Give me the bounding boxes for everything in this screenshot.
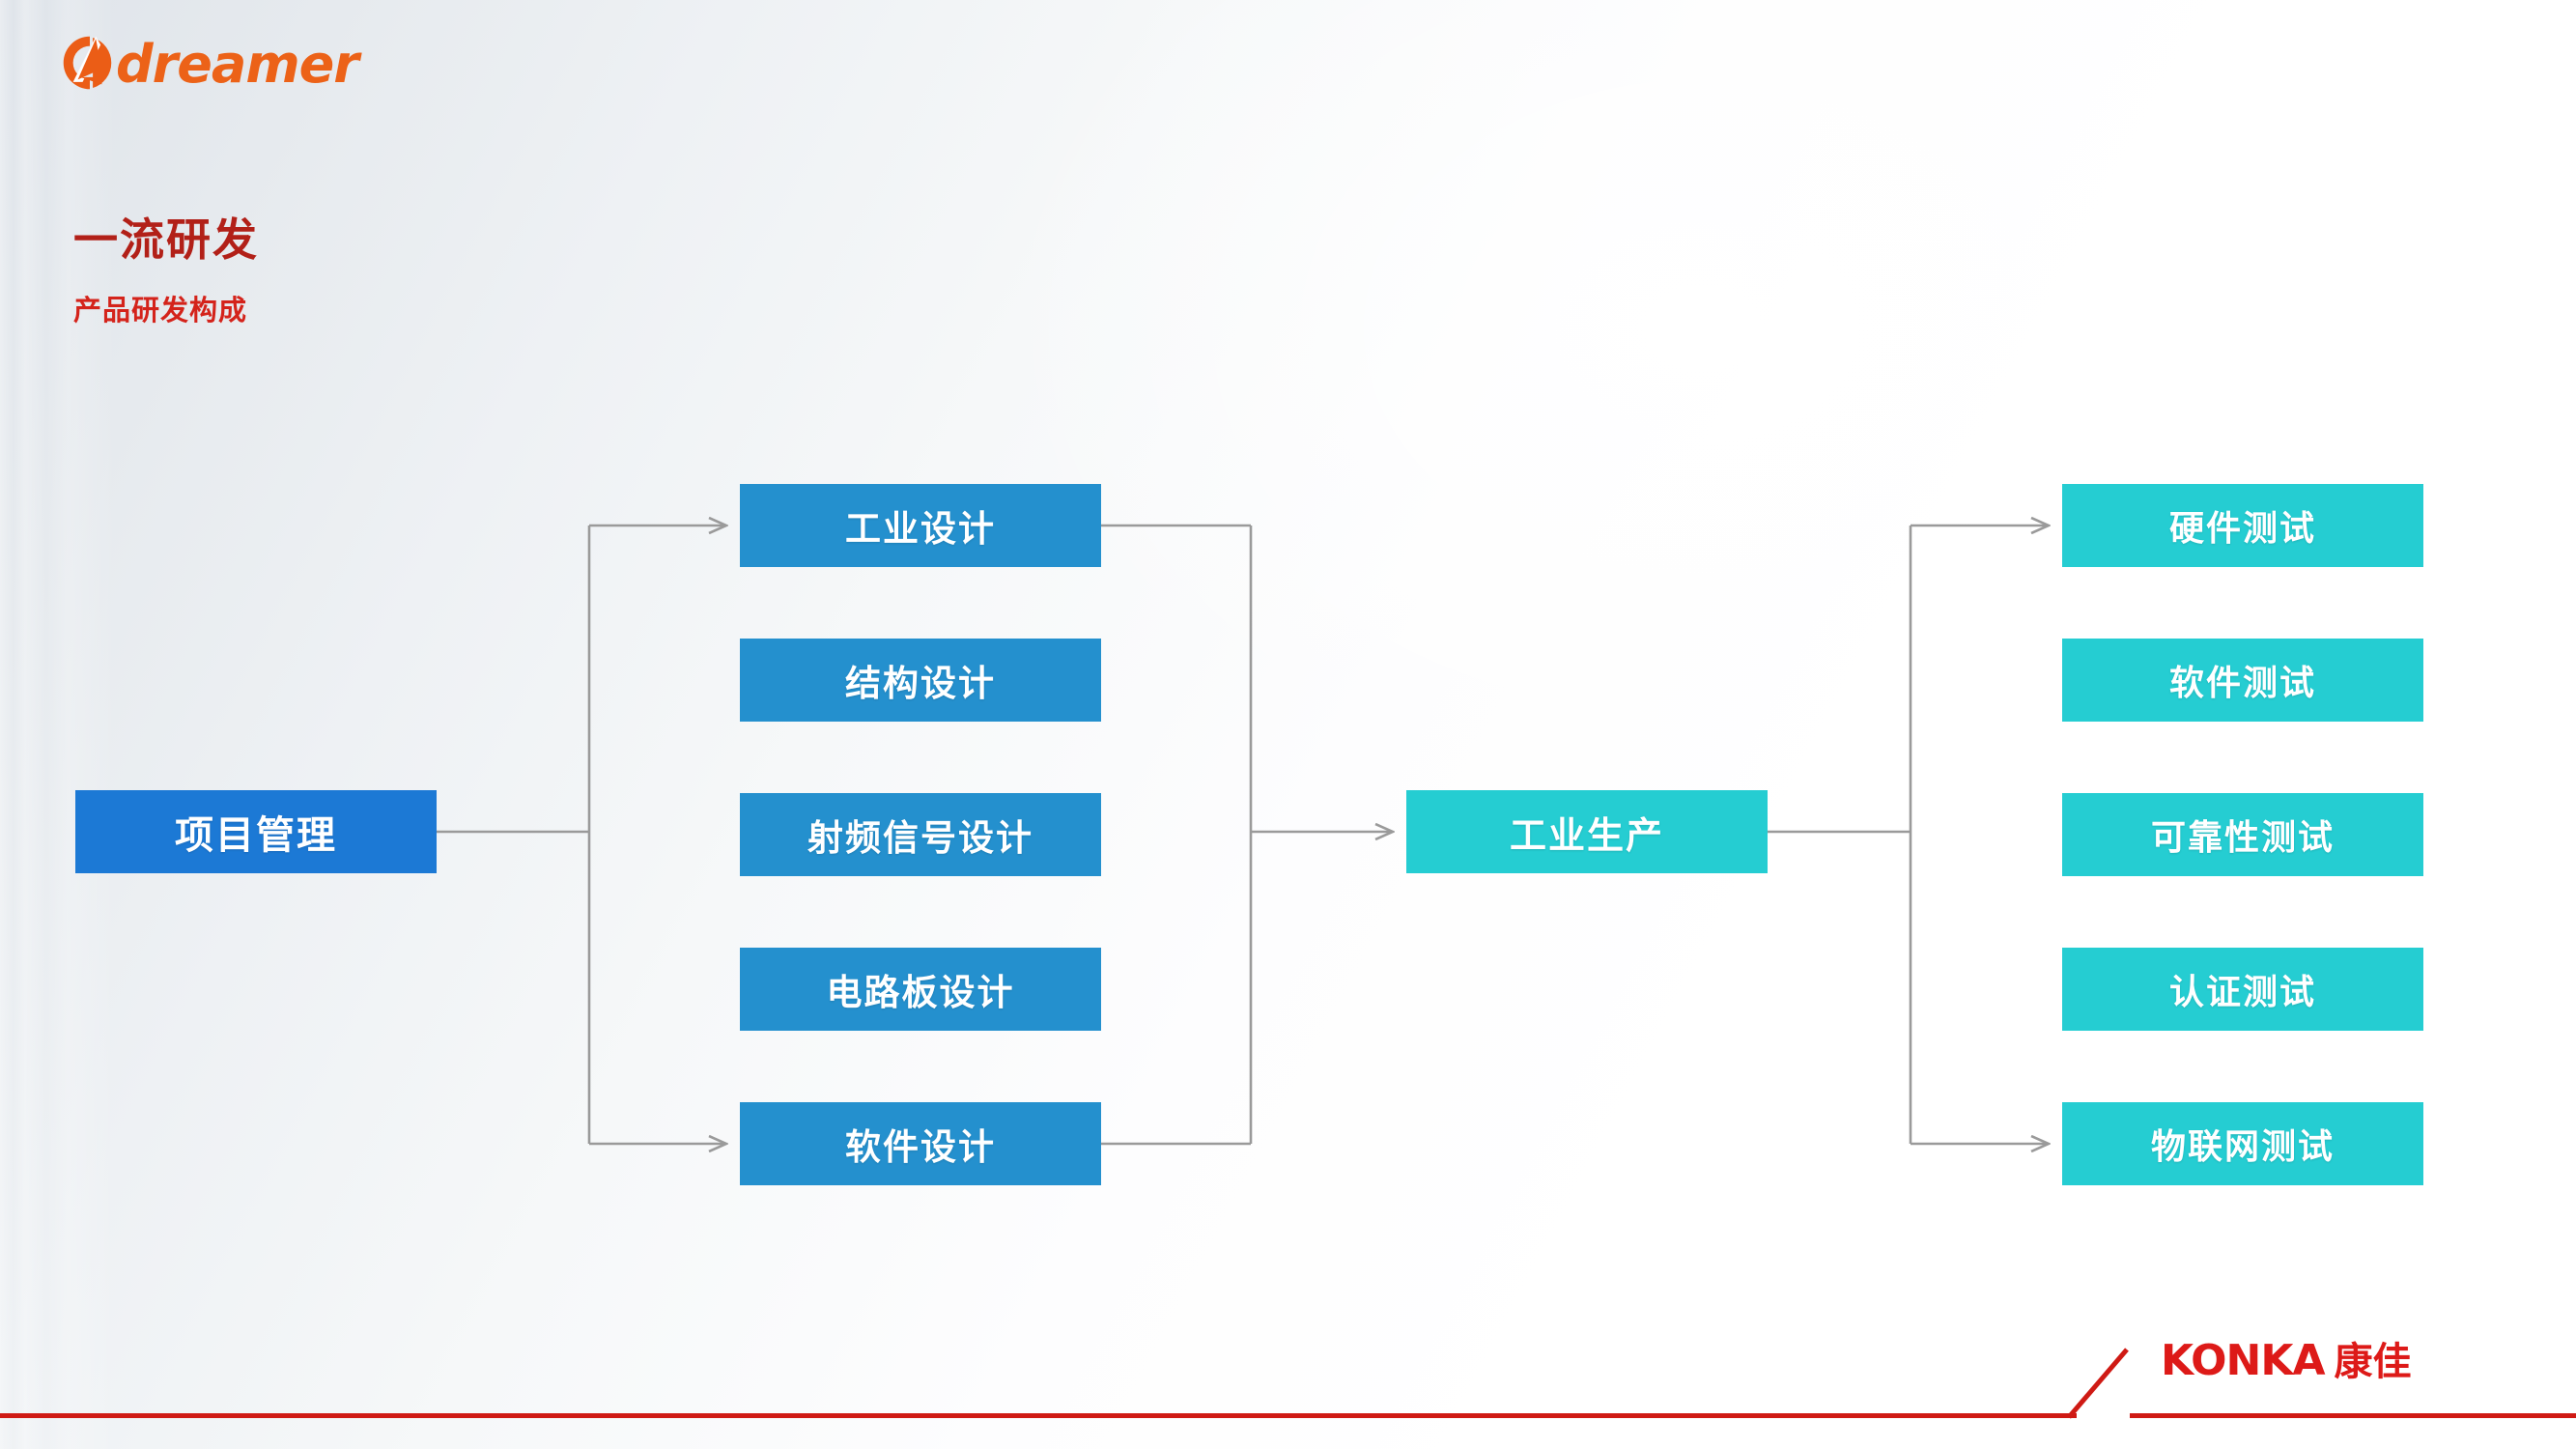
node-label: 物联网测试	[2151, 1119, 2335, 1169]
footer-rule-left	[0, 1413, 2077, 1418]
node-rf-signal-design[interactable]: 射频信号设计	[740, 793, 1101, 876]
node-label: 项目管理	[175, 804, 337, 860]
node-industrial-design[interactable]: 工业设计	[740, 484, 1101, 567]
node-label: 射频信号设计	[807, 809, 1033, 861]
node-reliability-test[interactable]: 可靠性测试	[2062, 793, 2423, 876]
node-label: 硬件测试	[2169, 500, 2316, 551]
node-label: 电路板设计	[827, 963, 1015, 1015]
footer-rule-slash	[2067, 1348, 2144, 1419]
node-label: 结构设计	[845, 654, 996, 706]
node-hardware-test[interactable]: 硬件测试	[2062, 484, 2423, 567]
node-industrial-production[interactable]: 工业生产	[1406, 790, 1768, 873]
node-software-test[interactable]: 软件测试	[2062, 639, 2423, 722]
node-label: 工业生产	[1510, 806, 1664, 859]
node-iot-test[interactable]: 物联网测试	[2062, 1102, 2423, 1185]
konka-logo-cn: 康佳	[2335, 1343, 2412, 1381]
process-diagram: 项目管理 工业设计 结构设计 射频信号设计 电路板设计 软件设计 工业生产 硬件…	[0, 0, 2576, 1449]
node-label: 工业设计	[845, 499, 996, 552]
node-label: 可靠性测试	[2151, 810, 2335, 860]
node-certification-test[interactable]: 认证测试	[2062, 948, 2423, 1031]
konka-logo: KONKA 康佳	[2161, 1340, 2412, 1382]
node-software-design[interactable]: 软件设计	[740, 1102, 1101, 1185]
node-label: 软件测试	[2169, 655, 2316, 705]
diagram-connectors	[0, 0, 2576, 1449]
node-label: 认证测试	[2169, 964, 2316, 1014]
node-project-management[interactable]: 项目管理	[75, 790, 437, 873]
slide-canvas: dreamer 一流研发 产品研发构成	[0, 0, 2576, 1449]
node-label: 软件设计	[845, 1118, 996, 1170]
konka-logo-en: KONKA	[2161, 1340, 2325, 1382]
node-structural-design[interactable]: 结构设计	[740, 639, 1101, 722]
node-pcb-design[interactable]: 电路板设计	[740, 948, 1101, 1031]
footer-rule-right	[2130, 1413, 2576, 1418]
